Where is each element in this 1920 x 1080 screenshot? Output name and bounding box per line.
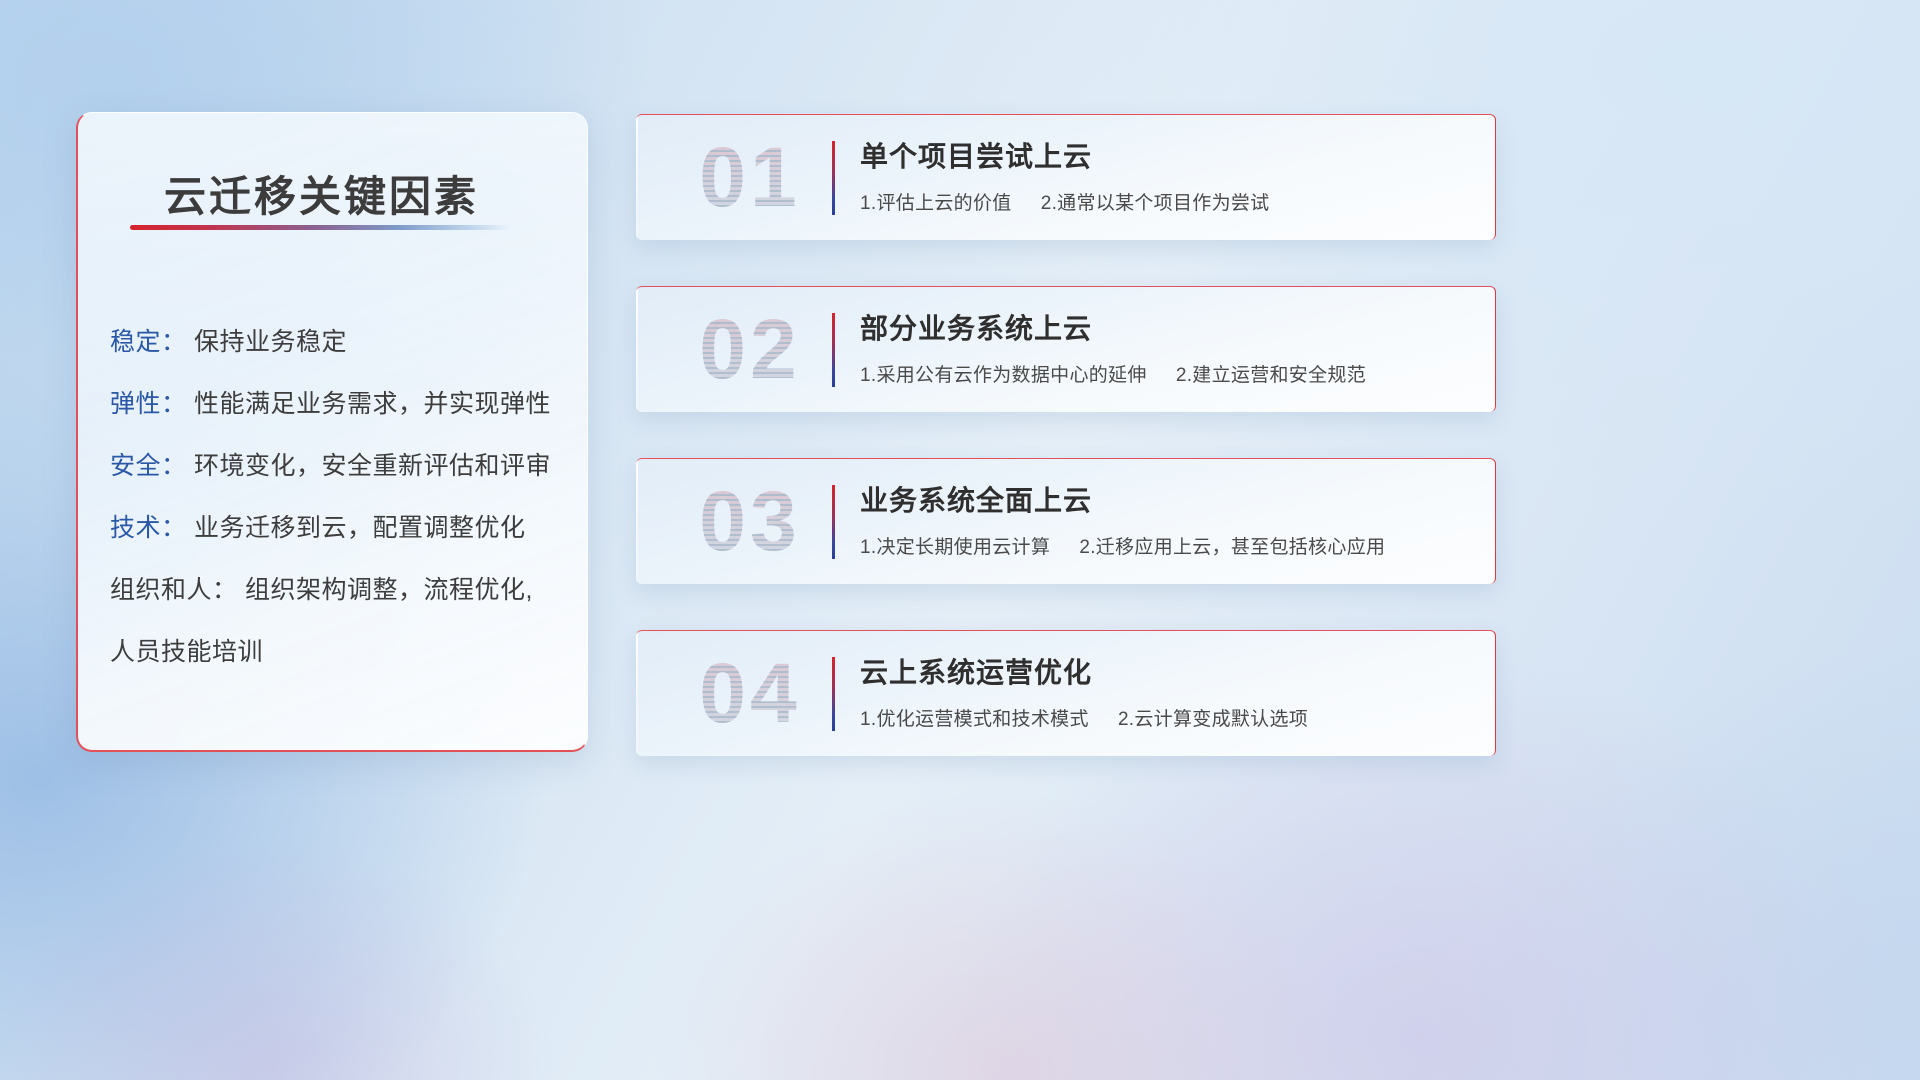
card-title: 云上系统运营优化 — [860, 653, 1477, 693]
factor-label: 弹性： — [110, 390, 187, 418]
stage-number: 03 — [660, 474, 840, 570]
card-point-2: 2.建立运营和安全规范 — [1176, 365, 1366, 386]
card-subtitle: 1.优化运营模式和技术模式 2.云计算变成默认选项 — [860, 707, 1477, 733]
card-point-2: 2.迁移应用上云，甚至包括核心应用 — [1079, 537, 1385, 558]
card-body: 单个项目尝试上云 1.评估上云的价值 2.通常以某个项目作为尝试 — [860, 137, 1477, 217]
card-body: 业务系统全面上云 1.决定长期使用云计算 2.迁移应用上云，甚至包括核心应用 — [860, 481, 1477, 561]
card-point-1: 1.评估上云的价值 — [860, 193, 1012, 214]
card-divider-rule — [832, 657, 835, 731]
stage-number: 01 — [660, 130, 840, 226]
factor-label: 技术： — [110, 514, 187, 542]
key-factors-panel: 云迁移关键因素 稳定： 保持业务稳定 弹性： 性能满足业务需求，并实现弹性 安全… — [76, 112, 588, 752]
factor-row: 人员技能培训 — [110, 621, 563, 683]
stage-card[interactable]: 03 业务系统全面上云 1.决定长期使用云计算 2.迁移应用上云，甚至包括核心应… — [636, 458, 1496, 584]
card-point-1: 1.优化运营模式和技术模式 — [860, 709, 1089, 730]
factor-text: 人员技能培训 — [110, 638, 263, 666]
card-point-2: 2.云计算变成默认选项 — [1118, 709, 1308, 730]
stage-card[interactable]: 02 部分业务系统上云 1.采用公有云作为数据中心的延伸 2.建立运营和安全规范 — [636, 286, 1496, 412]
card-title: 业务系统全面上云 — [860, 481, 1477, 521]
stage-number: 04 — [660, 646, 840, 742]
stage-card[interactable]: 01 单个项目尝试上云 1.评估上云的价值 2.通常以某个项目作为尝试 — [636, 114, 1496, 240]
factor-list: 稳定： 保持业务稳定 弹性： 性能满足业务需求，并实现弹性 安全： 环境变化，安… — [110, 311, 563, 683]
factor-label: 安全： — [110, 452, 187, 480]
card-title: 部分业务系统上云 — [860, 309, 1477, 349]
factor-row: 弹性： 性能满足业务需求，并实现弹性 — [110, 373, 563, 435]
card-divider-rule — [832, 485, 835, 559]
factor-text: 业务迁移到云，配置调整优化 — [194, 514, 526, 542]
factor-label: 组织和人： — [110, 576, 238, 604]
factor-row: 稳定： 保持业务稳定 — [110, 311, 563, 373]
card-subtitle: 1.采用公有云作为数据中心的延伸 2.建立运营和安全规范 — [860, 363, 1477, 389]
title-underline-rule — [130, 225, 512, 230]
factor-text: 性能满足业务需求，并实现弹性 — [194, 390, 551, 418]
factor-row: 安全： 环境变化，安全重新评估和评审 — [110, 435, 563, 497]
stage-card[interactable]: 04 云上系统运营优化 1.优化运营模式和技术模式 2.云计算变成默认选项 — [636, 630, 1496, 756]
stage-card-list: 01 单个项目尝试上云 1.评估上云的价值 2.通常以某个项目作为尝试 02 部… — [636, 114, 1496, 802]
factor-text: 保持业务稳定 — [194, 328, 347, 356]
factor-row: 组织和人： 组织架构调整，流程优化, — [110, 559, 563, 621]
card-title: 单个项目尝试上云 — [860, 137, 1477, 177]
factor-row: 技术： 业务迁移到云，配置调整优化 — [110, 497, 563, 559]
card-body: 云上系统运营优化 1.优化运营模式和技术模式 2.云计算变成默认选项 — [860, 653, 1477, 733]
stage-number: 02 — [660, 302, 840, 398]
card-subtitle: 1.评估上云的价值 2.通常以某个项目作为尝试 — [860, 191, 1477, 217]
card-divider-rule — [832, 313, 835, 387]
slide-canvas: 云迁移关键因素 稳定： 保持业务稳定 弹性： 性能满足业务需求，并实现弹性 安全… — [0, 0, 1920, 1080]
card-point-1: 1.采用公有云作为数据中心的延伸 — [860, 365, 1147, 386]
factor-text: 组织架构调整，流程优化, — [245, 576, 533, 604]
factor-text: 环境变化，安全重新评估和评审 — [194, 452, 551, 480]
card-point-1: 1.决定长期使用云计算 — [860, 537, 1050, 558]
card-body: 部分业务系统上云 1.采用公有云作为数据中心的延伸 2.建立运营和安全规范 — [860, 309, 1477, 389]
factor-label: 稳定： — [110, 328, 187, 356]
page-title: 云迁移关键因素 — [164, 163, 479, 224]
card-point-2: 2.通常以某个项目作为尝试 — [1041, 193, 1270, 214]
card-divider-rule — [832, 141, 835, 215]
card-subtitle: 1.决定长期使用云计算 2.迁移应用上云，甚至包括核心应用 — [860, 535, 1477, 561]
